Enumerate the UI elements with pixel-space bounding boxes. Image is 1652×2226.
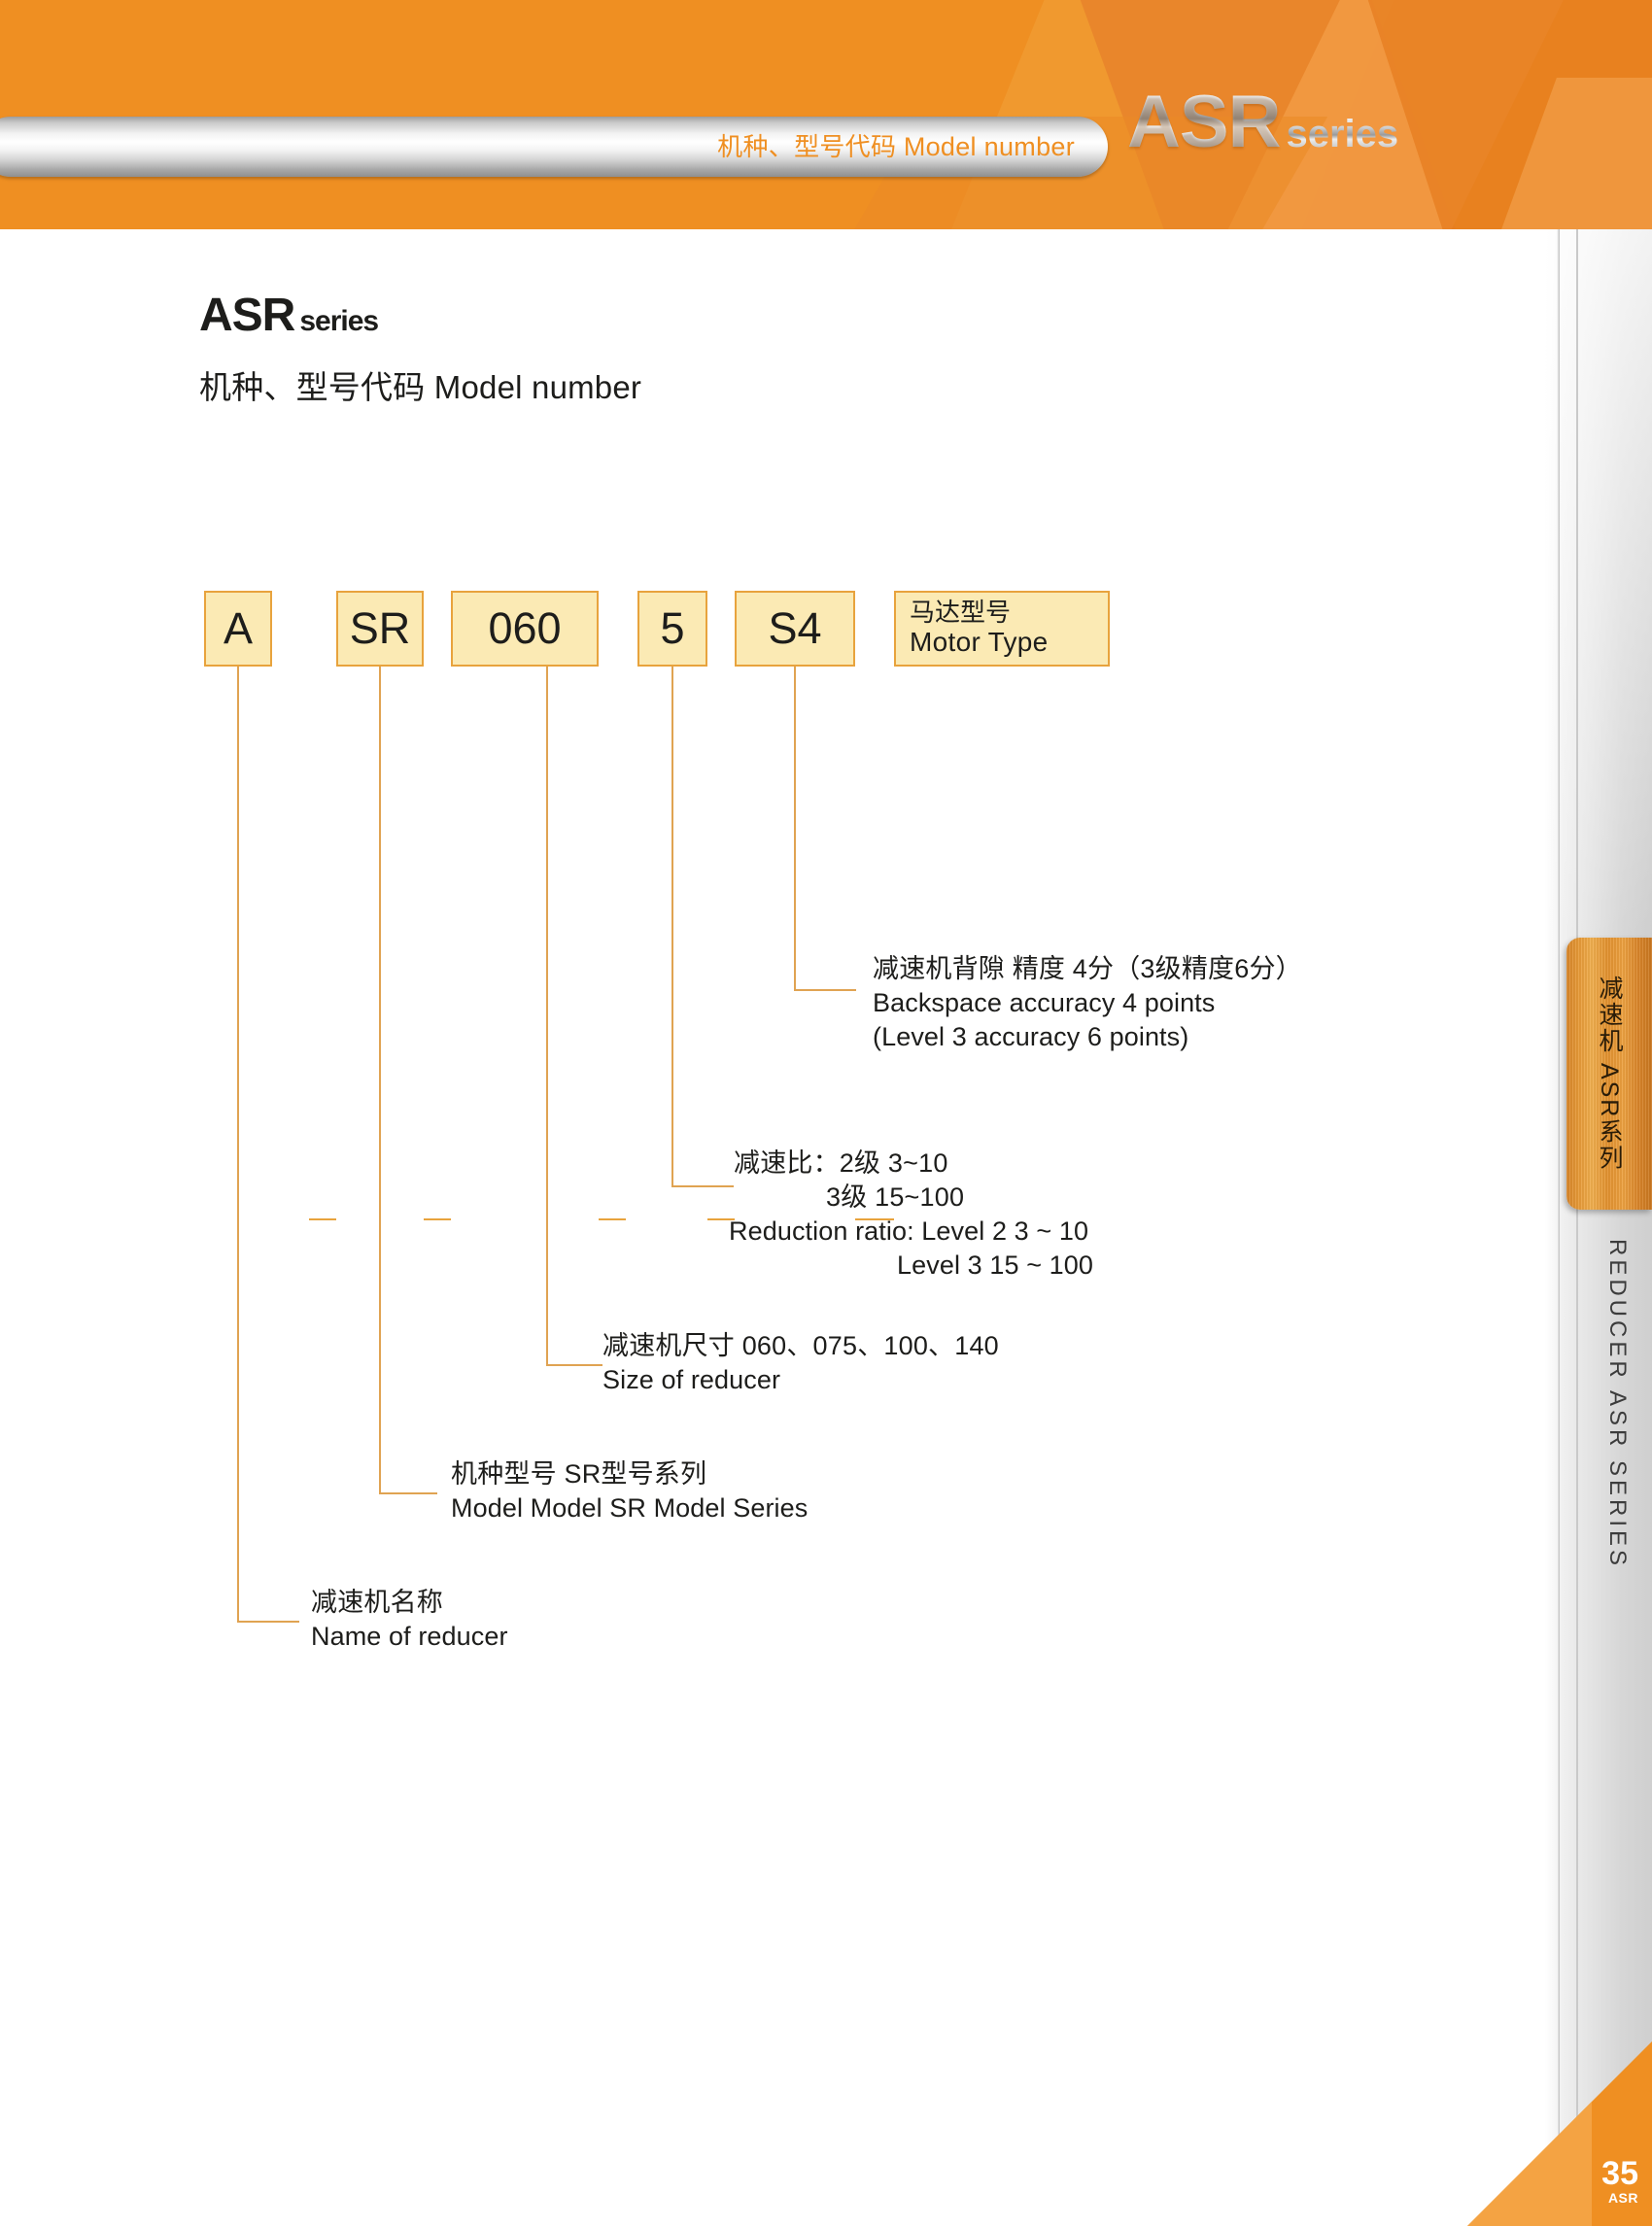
header-logo: ASRseries xyxy=(1127,86,1398,159)
code-connector-1 xyxy=(309,1218,336,1220)
callout-name-of-reducer: 减速机名称 Name of reducer xyxy=(311,1586,508,1654)
callout-line: 减速比：2级 3~10 xyxy=(734,1147,1093,1181)
header-ribbon-label: 机种、型号代码 Model number xyxy=(717,117,1075,177)
sidebar-tab-reducer-asr[interactable]: 减速机 ASR系列 xyxy=(1566,938,1652,1210)
header-chrome-ribbon: 机种、型号代码 Model number xyxy=(0,117,1108,177)
code-box-size[interactable]: 060 xyxy=(451,591,599,667)
callout-size-of-reducer: 减速机尺寸 060、075、100、140 Size of reducer xyxy=(602,1329,999,1397)
code-box-motor-type[interactable]: 马达型号 Motor Type xyxy=(894,591,1110,667)
motor-type-label-cn: 马达型号 xyxy=(910,599,1108,627)
page-number-label: ASR xyxy=(1601,2191,1638,2205)
corner-triangle-light xyxy=(1467,2102,1592,2226)
page-title-asr: ASR xyxy=(199,290,294,341)
header-logo-asr: ASR xyxy=(1127,81,1280,163)
page-title: ASRseries xyxy=(199,291,641,340)
callout-line: 3级 15~100 xyxy=(734,1181,1093,1215)
sidebar-vertical-label: REDUCER ASR SERIES xyxy=(1603,1239,1631,1569)
callout-line: Backspace accuracy 4 points xyxy=(873,986,1302,1020)
callout-backspace-accuracy: 减速机背隙 精度 4分（3级精度6分） Backspace accuracy 4… xyxy=(873,952,1302,1054)
sidebar-tab-label: 减速机 ASR系列 xyxy=(1566,938,1652,1210)
page-number: 35 ASR xyxy=(1601,2157,1638,2205)
code-box-backlash[interactable]: S4 xyxy=(735,591,855,667)
callout-line: Name of reducer xyxy=(311,1620,508,1654)
code-connector-2 xyxy=(424,1218,451,1220)
code-box-model[interactable]: SR xyxy=(336,591,424,667)
header-logo-series: series xyxy=(1286,113,1398,155)
callout-reduction-ratio: 减速比：2级 3~10 3级 15~100 Reduction ratio: L… xyxy=(734,1147,1093,1283)
code-box-ratio[interactable]: 5 xyxy=(637,591,707,667)
callout-line: (Level 3 accuracy 6 points) xyxy=(873,1020,1302,1054)
page-subtitle: 机种、型号代码 Model number xyxy=(199,361,641,408)
page-number-corner: 35 ASR xyxy=(1448,2041,1652,2226)
callout-line: 减速机背隙 精度 4分（3级精度6分） xyxy=(873,952,1302,986)
motor-type-label-en: Motor Type xyxy=(910,627,1108,657)
callout-line: Level 3 15 ~ 100 xyxy=(734,1249,1093,1283)
callout-model-series: 机种型号 SR型号系列 Model Model SR Model Series xyxy=(451,1457,808,1525)
callout-line: Reduction ratio: Level 2 3 ~ 10 xyxy=(729,1215,1093,1249)
page-title-block: ASRseries 机种、型号代码 Model number xyxy=(199,291,641,408)
code-box-name[interactable]: A xyxy=(204,591,272,667)
page-header: 机种、型号代码 Model number ASRseries xyxy=(0,0,1652,229)
callout-line: 机种型号 SR型号系列 xyxy=(451,1457,808,1491)
page-title-series: series xyxy=(299,305,378,337)
code-connector-3 xyxy=(599,1218,626,1220)
page-number-value: 35 xyxy=(1601,2155,1638,2192)
callout-line: 减速机名称 xyxy=(311,1586,508,1620)
callout-line: 减速机尺寸 060、075、100、140 xyxy=(602,1329,999,1363)
sidebar-divider-1 xyxy=(1557,229,1560,2226)
header-ribbon-label-en: Model number xyxy=(904,132,1075,161)
sidebar-divider-2 xyxy=(1576,229,1578,2226)
header-ribbon-label-cn: 机种、型号代码 xyxy=(717,132,896,161)
callout-line: Model Model SR Model Series xyxy=(451,1491,808,1525)
callout-line: Size of reducer xyxy=(602,1363,999,1397)
sidebar-highlight xyxy=(1545,229,1652,2226)
